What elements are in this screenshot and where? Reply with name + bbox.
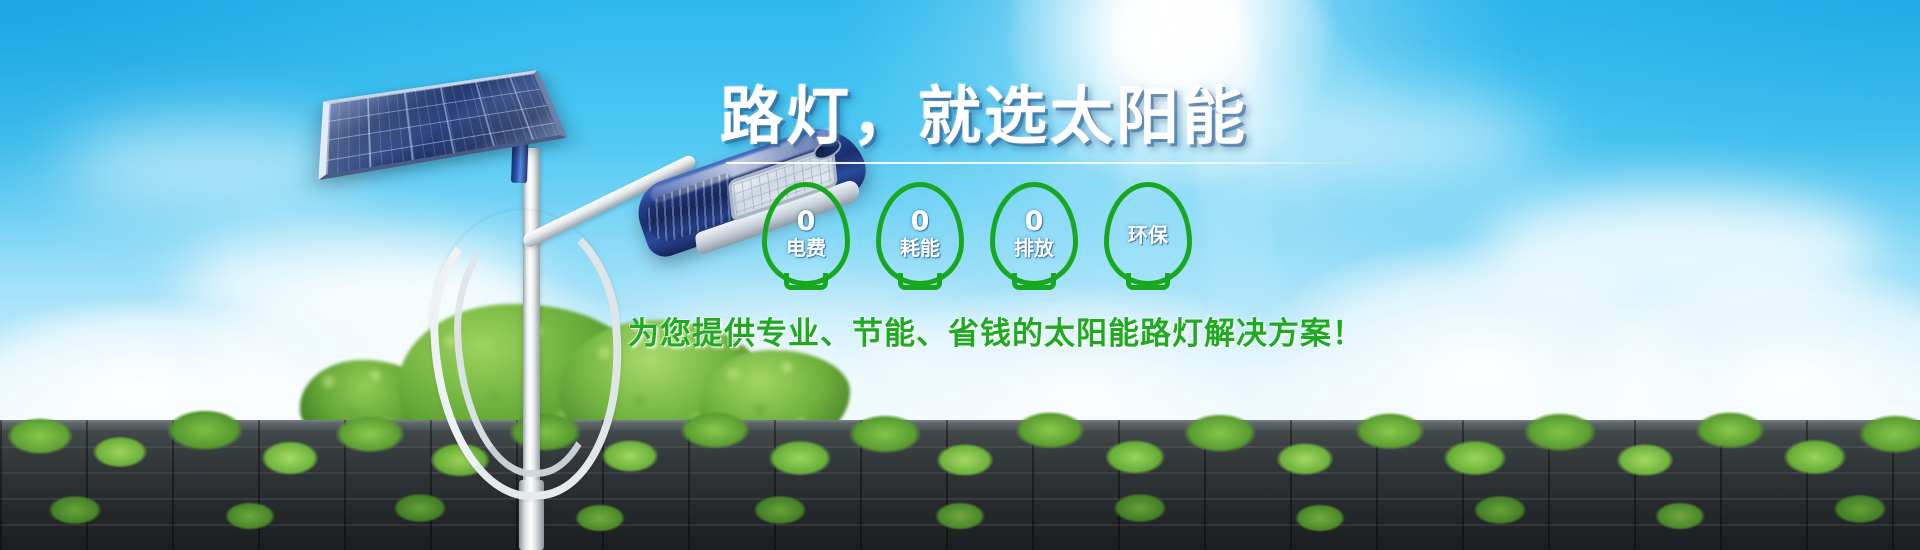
feature-badge-list: 0 电费 0 耗能 0 排放 环保 <box>762 182 1460 286</box>
badge-label: 耗能 <box>900 238 940 258</box>
feature-badge: 0 耗能 <box>876 182 964 286</box>
banner-copy: 路灯，就选太阳能 0 电费 0 耗能 0 排放 环保 为您提供专业、节能、省钱的… <box>720 84 1460 353</box>
feature-badge: 0 电费 <box>762 182 850 286</box>
headline-divider <box>726 162 1366 164</box>
badge-number: 0 <box>911 208 930 235</box>
feature-badge: 0 排放 <box>990 182 1078 286</box>
banner-tagline: 为您提供专业、节能、省钱的太阳能路灯解决方案！ <box>628 308 1460 353</box>
badge-number: 0 <box>1025 208 1044 235</box>
badge-label: 电费 <box>786 238 826 258</box>
badge-number: 0 <box>797 208 816 235</box>
cloud-icon <box>60 120 360 210</box>
banner-headline: 路灯，就选太阳能 <box>720 84 1460 150</box>
feature-badge: 环保 <box>1104 182 1192 286</box>
tiled-wall <box>0 420 1920 550</box>
badge-label: 环保 <box>1128 225 1168 245</box>
wall-tile-pattern <box>0 420 1920 550</box>
solar-street-light-banner: 路灯，就选太阳能 0 电费 0 耗能 0 排放 环保 为您提供专业、节能、省钱的… <box>0 0 1920 550</box>
cloud-icon <box>1480 190 1880 310</box>
badge-label: 排放 <box>1014 238 1054 258</box>
